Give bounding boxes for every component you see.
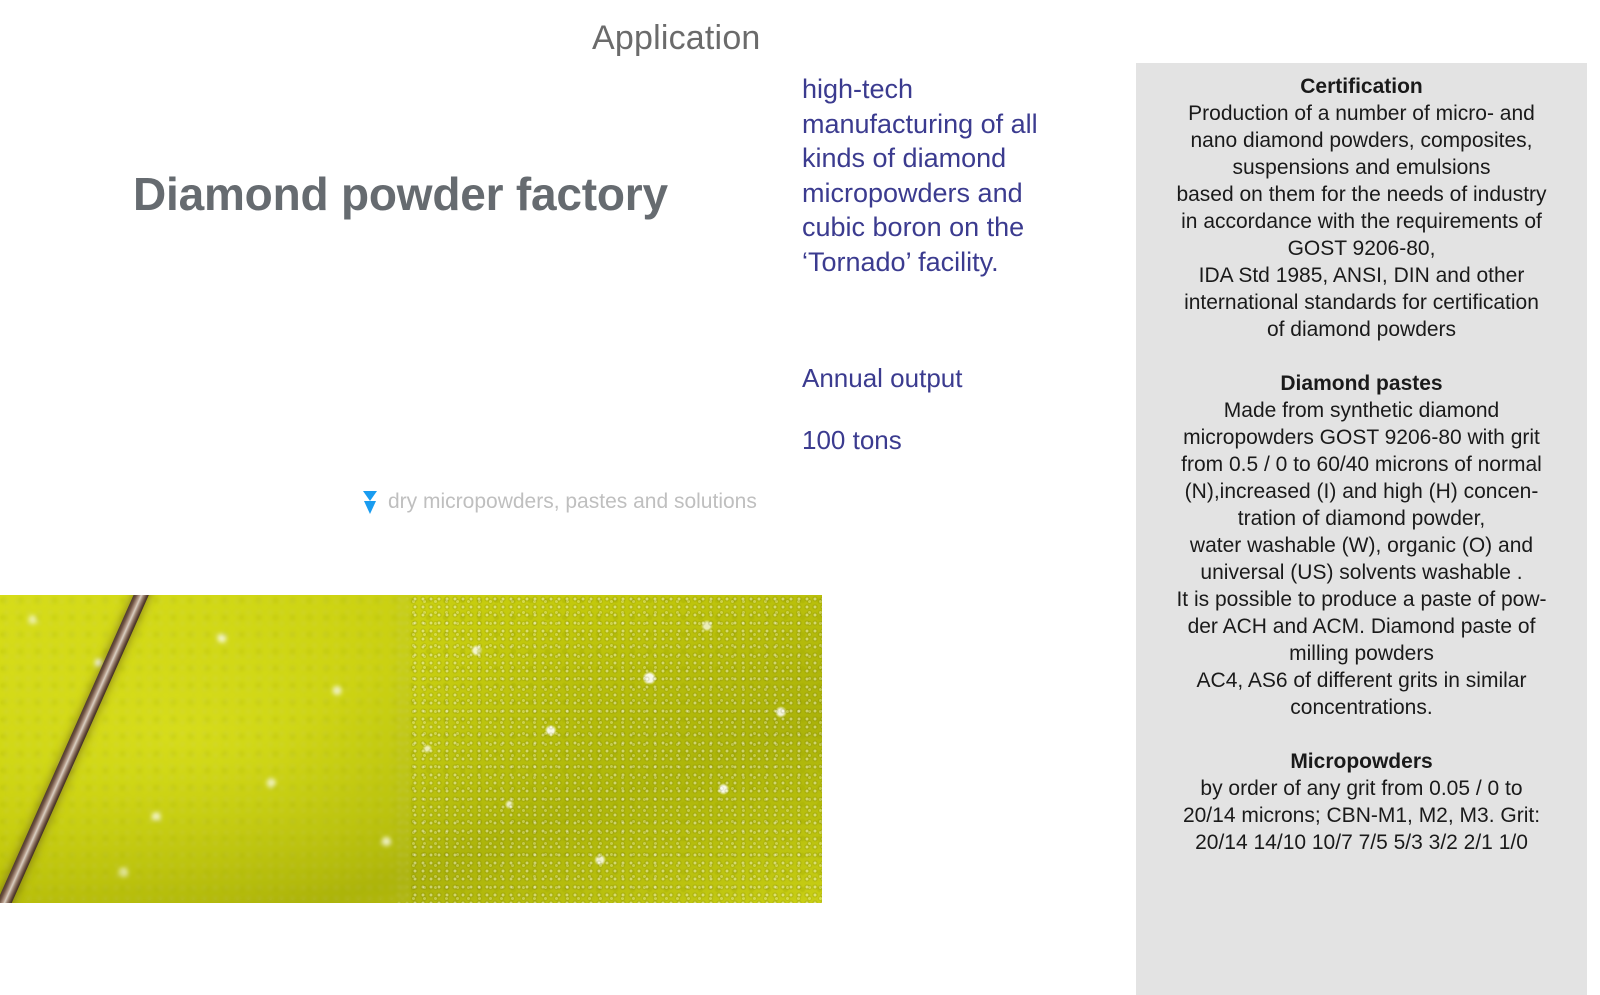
info-block-line: concentrations. xyxy=(1144,694,1579,721)
info-block-title: Diamond pastes xyxy=(1144,370,1579,397)
info-block-line: international standards for certificatio… xyxy=(1144,289,1579,316)
application-text-column: high-tech manufacturing of all kinds of … xyxy=(802,72,1082,279)
slide-canvas: Application Diamond powder factory high-… xyxy=(0,0,1600,995)
page-title: Diamond powder factory xyxy=(133,164,668,224)
info-block-line: in accordance with the requirements of xyxy=(1144,208,1579,235)
info-block-line: by order of any grit from 0.05 / 0 to xyxy=(1144,775,1579,802)
info-block-line: der ACH and ACM. Diamond paste of xyxy=(1144,613,1579,640)
info-block-line: based on them for the needs of industry xyxy=(1144,181,1579,208)
info-block-line: milling powders xyxy=(1144,640,1579,667)
diamond-powder-photo xyxy=(0,595,822,903)
info-block-line: (N),increased (I) and high (H) concen- xyxy=(1144,478,1579,505)
info-block-line: It is possible to produce a paste of pow… xyxy=(1144,586,1579,613)
info-block-line: Made from synthetic diamond xyxy=(1144,397,1579,424)
info-block-title: Micropowders xyxy=(1144,748,1579,775)
info-block-line: 20/14 14/10 10/7 7/5 5/3 3/2 2/1 1/0 xyxy=(1144,829,1579,856)
info-block-line: Production of a number of micro- and xyxy=(1144,100,1579,127)
info-block-line: from 0.5 / 0 to 60/40 microns of normal xyxy=(1144,451,1579,478)
double-chevron-down-icon xyxy=(362,490,378,516)
info-block: CertificationProduction of a number of m… xyxy=(1144,73,1579,343)
info-block-line: GOST 9206-80, xyxy=(1144,235,1579,262)
info-block-line: micropowders GOST 9206-80 with grit xyxy=(1144,424,1579,451)
info-block-line: suspensions and emulsions xyxy=(1144,154,1579,181)
info-block: Diamond pastesMade from synthetic diamon… xyxy=(1144,370,1579,721)
info-block-line: AC4, AS6 of different grits in similar xyxy=(1144,667,1579,694)
info-panel-blocks: CertificationProduction of a number of m… xyxy=(1144,73,1579,856)
info-block: Micropowdersby order of any grit from 0.… xyxy=(1144,748,1579,856)
info-block-line: of diamond powders xyxy=(1144,316,1579,343)
annual-output-label: Annual output xyxy=(802,362,962,394)
info-block-spacer xyxy=(1144,343,1579,370)
annual-output-value: 100 tons xyxy=(802,424,902,456)
product-forms-bullet: dry micropowders, pastes and solutions xyxy=(362,487,814,517)
info-block-line: water washable (W), organic (O) and xyxy=(1144,532,1579,559)
info-block-line: 20/14 microns; CBN-M1, M2, M3. Grit: xyxy=(1144,802,1579,829)
info-block-title: Certification xyxy=(1144,73,1579,100)
info-block-line: tration of diamond powder, xyxy=(1144,505,1579,532)
photo-blur-left-layer xyxy=(0,595,411,903)
info-block-spacer xyxy=(1144,721,1579,748)
photo-grain-layer-right xyxy=(395,595,822,903)
info-block-line: nano diamond powders, composites, xyxy=(1144,127,1579,154)
info-panel: CertificationProduction of a number of m… xyxy=(1136,63,1587,995)
info-block-line: IDA Std 1985, ANSI, DIN and other xyxy=(1144,262,1579,289)
section-label: Application xyxy=(592,18,761,58)
info-block-line: universal (US) solvents washable . xyxy=(1144,559,1579,586)
product-forms-text: dry micropowders, pastes and solutions xyxy=(388,487,814,517)
application-lead-paragraph: high-tech manufacturing of all kinds of … xyxy=(802,72,1082,279)
